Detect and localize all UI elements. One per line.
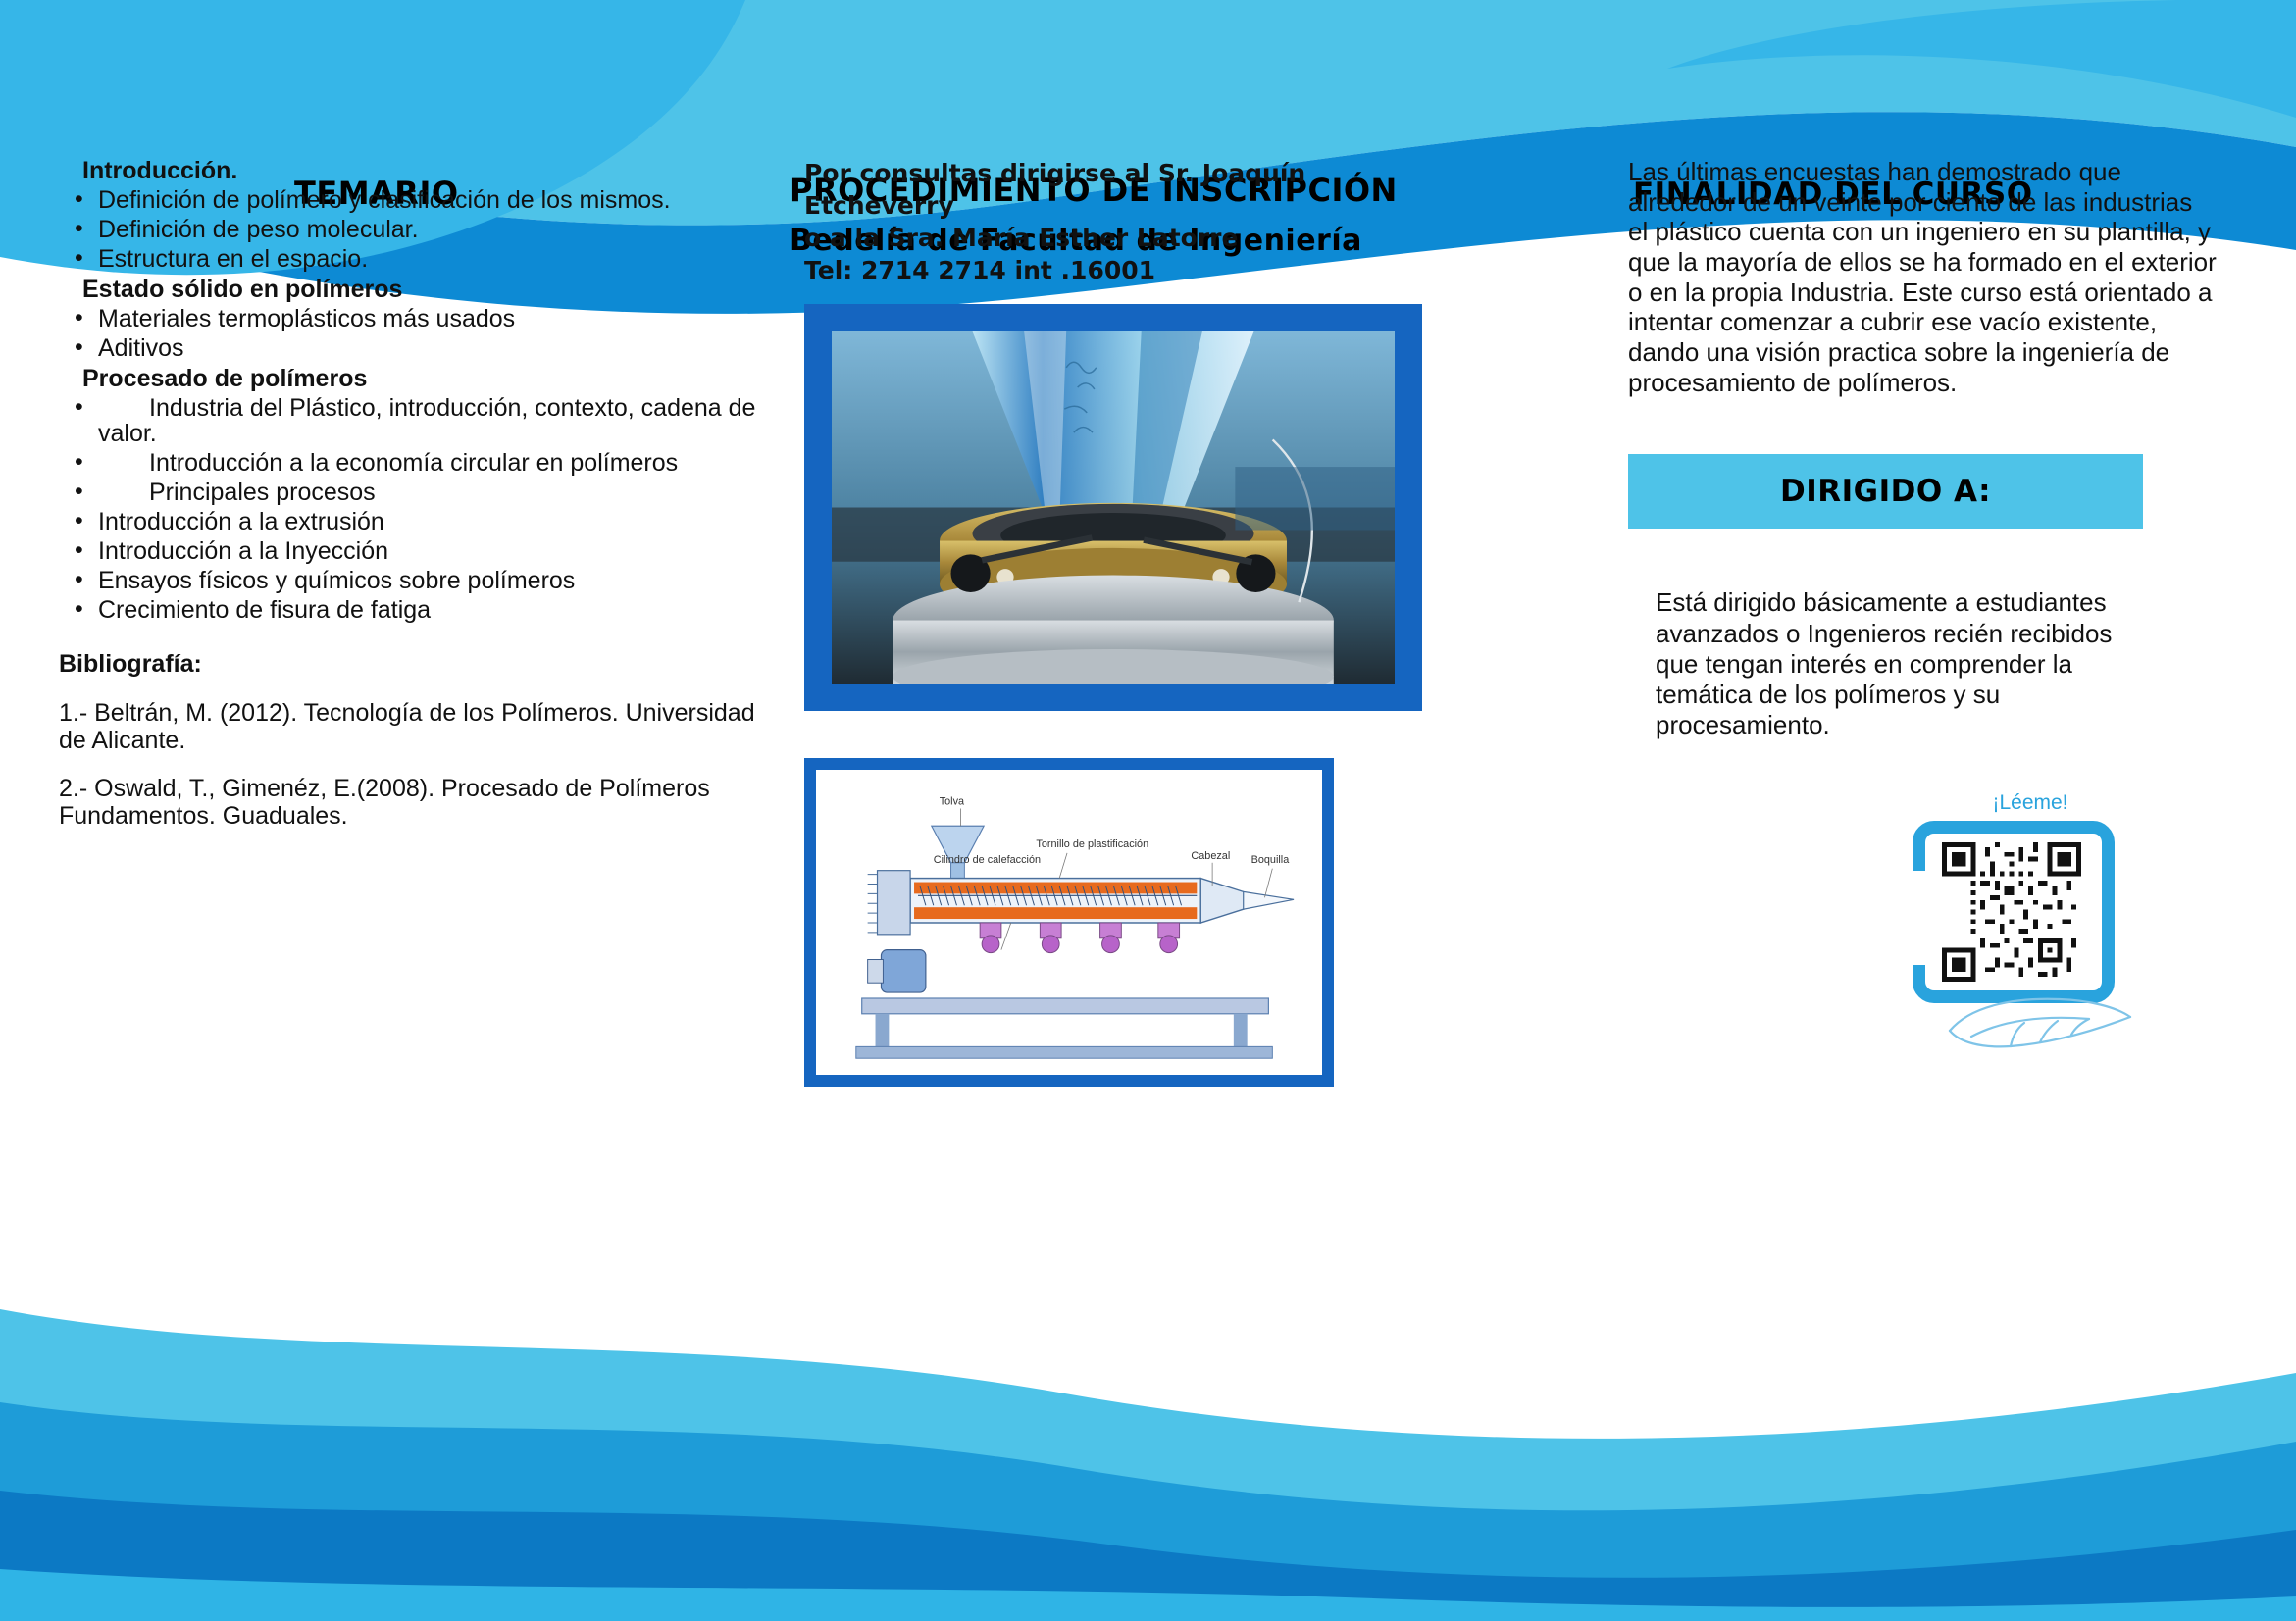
list-item: Estructura en el espacio.: [59, 246, 775, 272]
list-item-label: Introducción a la economía circular en p…: [149, 449, 678, 477]
bibliography-entry-2: 2.- Oswald, T., Gimenéz, E.(2008). Proce…: [59, 776, 775, 830]
diagram-label-tolva: Tolva: [940, 796, 965, 808]
list-item: Ensayos físicos y químicos sobre polímer…: [59, 568, 775, 593]
list-introduccion: Definición de polímero y clasificación d…: [59, 187, 775, 272]
list-estado-solido: Materiales termoplásticos más usados Adi…: [59, 306, 775, 361]
list-item: Introducción a la extrusión: [59, 509, 775, 534]
list-item-label: Industria del Plástico, introducción, co…: [98, 394, 755, 447]
diagram-single-screw-extruder: Tolva Tornillo de plastificación Cilindr…: [804, 758, 1334, 1087]
diagram-label-cilindro: Cilindro de calefacción: [934, 854, 1041, 866]
section-head-procesado: Procesado de polímeros: [82, 365, 775, 393]
bibliography-heading: Bibliografía:: [59, 650, 775, 679]
list-item: Definición de peso molecular.: [59, 217, 775, 242]
diagram-label-boquilla: Boquilla: [1251, 854, 1291, 866]
section-head-introduccion: Introducción.: [82, 157, 775, 185]
list-item: Introducción a la economía circular en p…: [59, 450, 775, 476]
list-procesado: Industria del Plástico, introducción, co…: [59, 395, 775, 623]
contact-phone: Tel: 2714 2714 int .16001: [804, 254, 1432, 286]
list-item-label: Principales procesos: [149, 479, 376, 506]
column-inscripcion: Por consultas dirigirse al Sr. Joaquín E…: [804, 157, 1432, 1087]
diagram-label-cabezal: Cabezal: [1191, 850, 1230, 862]
list-item: Industria del Plástico, introducción, co…: [59, 395, 775, 446]
column-finalidad: Las últimas encuestas han demostrado que…: [1628, 157, 2217, 1017]
contact-line-2: o a la Sra. María Esther Latorre: [804, 222, 1432, 254]
qr-leeme-label: ¡Léeme!: [1932, 791, 2128, 815]
contact-line-1: Por consultas dirigirse al Sr. Joaquín E…: [804, 157, 1432, 222]
hand-pointer-icon: [1942, 988, 2138, 1056]
list-item: Definición de polímero y clasificación d…: [59, 187, 775, 213]
bibliography-entry-1: 1.- Beltrán, M. (2012). Tecnología de lo…: [59, 700, 775, 754]
finalidad-paragraph: Las últimas encuestas han demostrado que…: [1628, 157, 2217, 397]
list-item: Aditivos: [59, 335, 775, 361]
list-item: Principales procesos: [59, 480, 775, 505]
list-item: Materiales termoplásticos más usados: [59, 306, 775, 331]
photo-blown-film-extrusion: [804, 304, 1422, 711]
dirigido-a-paragraph: Está dirigido básicamente a estudiantes …: [1656, 587, 2146, 740]
photo-inner: [832, 331, 1395, 684]
section-head-estado-solido: Estado sólido en polímeros: [82, 276, 775, 304]
contact-block: Por consultas dirigirse al Sr. Joaquín E…: [804, 157, 1432, 286]
dirigido-a-banner: DIRIGIDO A:: [1628, 454, 2143, 529]
qr-code-block[interactable]: [1913, 821, 2138, 1017]
list-item: Introducción a la Inyección: [59, 538, 775, 564]
dirigido-a-label: DIRIGIDO A:: [1780, 474, 1991, 509]
diagram-label-tornillo: Tornillo de plastificación: [1036, 838, 1148, 850]
list-item: Crecimiento de fisura de fatiga: [59, 597, 775, 623]
qr-code-icon[interactable]: [1938, 842, 2085, 982]
column-temario: Introducción. Definición de polímero y c…: [59, 157, 775, 830]
